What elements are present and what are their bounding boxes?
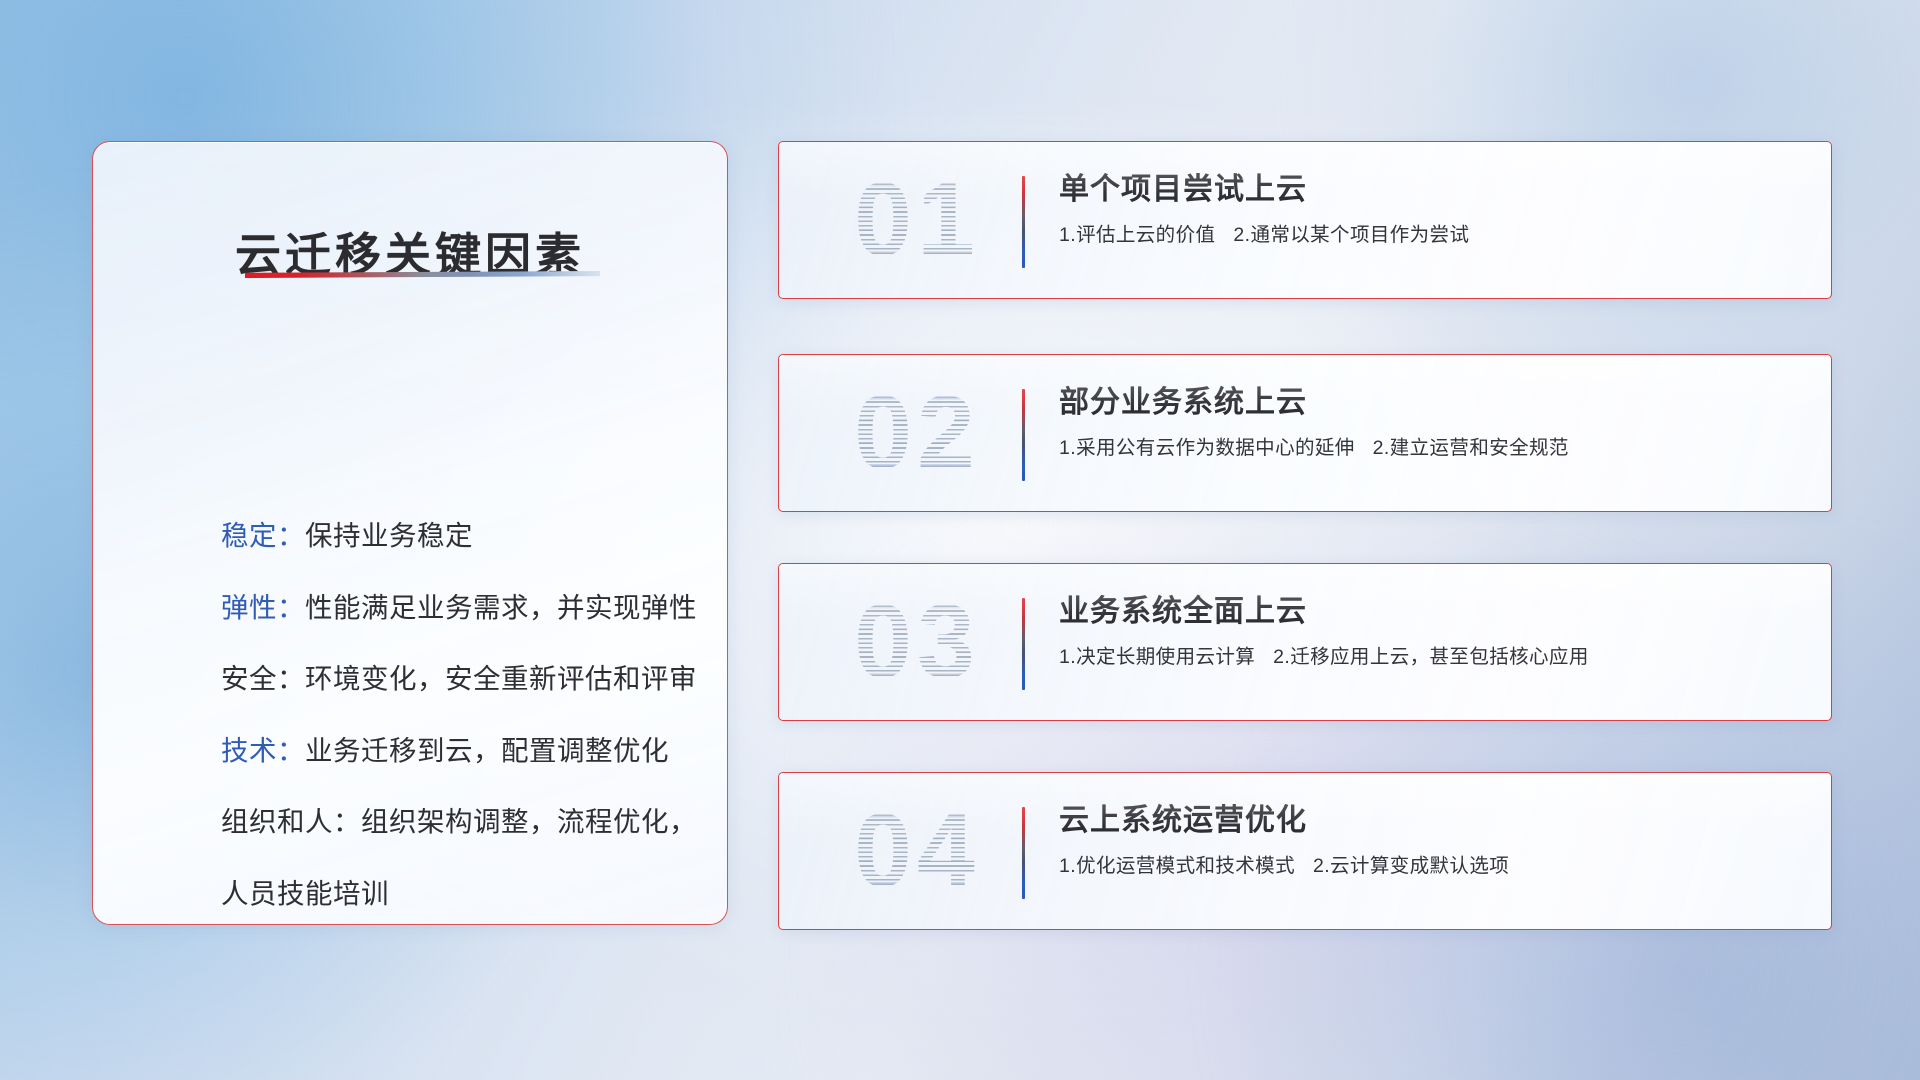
stage-points: 1.优化运营模式和技术模式2.云计算变成默认选项 bbox=[1059, 854, 1803, 879]
factor-item-technology: 技术：业务迁移到云，配置调整优化 bbox=[221, 737, 693, 765]
stage-title: 单个项目尝试上云 bbox=[1059, 172, 1803, 209]
factor-item-organization: 组织和人：组织架构调整，流程优化， bbox=[221, 808, 693, 836]
slide-canvas: 云迁移关键因素 稳定：保持业务稳定 弹性：性能满足业务需求，并实现弹性 安全：环… bbox=[0, 0, 1920, 1080]
stage-number-04: 04 bbox=[819, 787, 1015, 915]
stage-divider-bar bbox=[1022, 598, 1025, 690]
factor-item-security: 安全：环境变化，安全重新评估和评审 bbox=[221, 665, 693, 693]
stage-points: 1.评估上云的价值2.通常以某个项目作为尝试 bbox=[1059, 223, 1803, 248]
stage-title: 部分业务系统上云 bbox=[1059, 385, 1803, 422]
factor-text: 人员技能培训 bbox=[221, 878, 389, 909]
stage-point-1: 1.优化运营模式和技术模式 bbox=[1059, 855, 1295, 877]
key-factors-panel: 云迁移关键因素 稳定：保持业务稳定 弹性：性能满足业务需求，并实现弹性 安全：环… bbox=[92, 141, 728, 925]
stage-title: 云上系统运营优化 bbox=[1059, 803, 1803, 840]
stage-number-02: 02 bbox=[819, 369, 1015, 497]
factor-text: 性能满足业务需求，并实现弹性 bbox=[305, 592, 697, 623]
stage-card-04[interactable]: 04 04 云上系统运营优化 1.优化运营模式和技术模式2.云计算变成默认选项 bbox=[778, 772, 1832, 930]
stage-point-1: 1.评估上云的价值 bbox=[1059, 224, 1215, 246]
factor-text: 环境变化，安全重新评估和评审 bbox=[305, 663, 697, 694]
factor-text: 业务迁移到云，配置调整优化 bbox=[305, 735, 669, 766]
factor-text: 组织架构调整，流程优化， bbox=[361, 806, 697, 837]
stage-card-body: 业务系统全面上云 1.决定长期使用云计算2.迁移应用上云，甚至包括核心应用 bbox=[1059, 594, 1803, 670]
stage-number-03: 03 bbox=[819, 578, 1015, 706]
factor-label: 安全： bbox=[221, 663, 305, 694]
factor-item-organization-cont: 人员技能培训 bbox=[221, 880, 693, 908]
stage-card-03[interactable]: 03 03 业务系统全面上云 1.决定长期使用云计算2.迁移应用上云，甚至包括核… bbox=[778, 563, 1832, 721]
factor-item-elasticity: 弹性：性能满足业务需求，并实现弹性 bbox=[221, 594, 693, 622]
stage-card-01[interactable]: 01 01 单个项目尝试上云 1.评估上云的价值2.通常以某个项目作为尝试 bbox=[778, 141, 1832, 299]
factor-text: 保持业务稳定 bbox=[305, 520, 473, 551]
stage-divider-bar bbox=[1022, 176, 1025, 268]
stage-card-body: 单个项目尝试上云 1.评估上云的价值2.通常以某个项目作为尝试 bbox=[1059, 172, 1803, 248]
stage-number-01: 01 bbox=[819, 156, 1015, 284]
factor-label: 组织和人： bbox=[221, 806, 361, 837]
stage-point-2: 2.云计算变成默认选项 bbox=[1313, 855, 1509, 877]
stage-point-2: 2.迁移应用上云，甚至包括核心应用 bbox=[1273, 646, 1589, 668]
stage-point-1: 1.决定长期使用云计算 bbox=[1059, 646, 1255, 668]
stage-card-body: 部分业务系统上云 1.采用公有云作为数据中心的延伸2.建立运营和安全规范 bbox=[1059, 385, 1803, 461]
stage-points: 1.采用公有云作为数据中心的延伸2.建立运营和安全规范 bbox=[1059, 436, 1803, 461]
stage-card-body: 云上系统运营优化 1.优化运营模式和技术模式2.云计算变成默认选项 bbox=[1059, 803, 1803, 879]
key-factors-list: 稳定：保持业务稳定 弹性：性能满足业务需求，并实现弹性 安全：环境变化，安全重新… bbox=[221, 522, 693, 925]
stage-point-1: 1.采用公有云作为数据中心的延伸 bbox=[1059, 437, 1355, 459]
factor-label: 弹性： bbox=[221, 592, 305, 623]
stage-card-02[interactable]: 02 02 部分业务系统上云 1.采用公有云作为数据中心的延伸2.建立运营和安全… bbox=[778, 354, 1832, 512]
factor-label: 技术： bbox=[221, 735, 305, 766]
stage-divider-bar bbox=[1022, 389, 1025, 481]
stage-points: 1.决定长期使用云计算2.迁移应用上云，甚至包括核心应用 bbox=[1059, 645, 1803, 670]
stage-point-2: 2.建立运营和安全规范 bbox=[1373, 437, 1569, 459]
stage-title: 业务系统全面上云 bbox=[1059, 594, 1803, 631]
factor-item-stability: 稳定：保持业务稳定 bbox=[221, 522, 693, 550]
stage-point-2: 2.通常以某个项目作为尝试 bbox=[1233, 224, 1469, 246]
stage-divider-bar bbox=[1022, 807, 1025, 899]
factor-label: 稳定： bbox=[221, 520, 305, 551]
